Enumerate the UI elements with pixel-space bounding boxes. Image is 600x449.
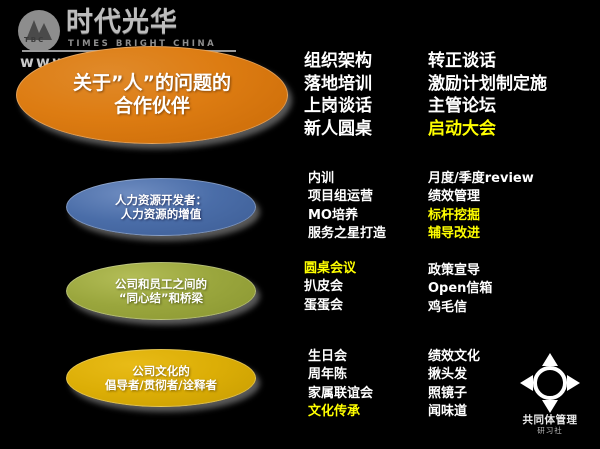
row-2-column-2: 月度/季度review 绩效管理 标杆挖掘 辅导改进 xyxy=(428,170,534,244)
list-item: 照镜子 xyxy=(428,385,480,403)
tbc-logo-icon: TBC xyxy=(18,10,60,52)
row-2-column-1: 内训 项目组运营 MO培养 服务之星打造 xyxy=(308,170,386,244)
row-4-column-1: 生日会 周年陈 家属联谊会 文化传承 xyxy=(308,348,373,422)
compass-diamond-icon xyxy=(518,352,582,414)
role-ellipse-1-line1: 关于”人”的问题的 xyxy=(73,72,231,95)
corner-logo: 共同体管理 研习社 xyxy=(512,352,588,444)
list-item: 激励计划制定施 xyxy=(428,73,547,96)
list-item: 月度/季度review xyxy=(428,170,534,188)
list-item: 蛋蛋会 xyxy=(304,297,356,315)
row-1-column-2: 转正谈话 激励计划制定施 主管论坛 启动大会 xyxy=(428,50,547,140)
list-item: 转正谈话 xyxy=(428,50,547,73)
role-ellipse-1: 关于”人”的问题的 合作伙伴 xyxy=(16,46,288,144)
role-ellipse-4: 公司文化的 倡导者/贯彻者/诠释者 xyxy=(66,349,256,407)
list-item: 家属联谊会 xyxy=(308,385,373,403)
list-item: 服务之星打造 xyxy=(308,225,386,243)
list-item: 政策宣导 xyxy=(428,262,492,280)
list-item: 新人圆桌 xyxy=(304,118,372,141)
row-3-column-1: 圆桌会议 扒皮会 蛋蛋会 xyxy=(304,260,356,315)
role-ellipse-4-line2: 倡导者/贯彻者/诠释者 xyxy=(105,378,217,392)
list-item: 周年陈 xyxy=(308,366,373,384)
role-ellipse-2: 人力资源开发者： 人力资源的增值 xyxy=(66,178,256,236)
list-item: MO培养 xyxy=(308,207,386,225)
list-item: 闻味道 xyxy=(428,403,480,421)
list-item: 项目组运营 xyxy=(308,188,386,206)
role-ellipse-2-line2: 人力资源的增值 xyxy=(115,207,207,221)
list-item: 主管论坛 xyxy=(428,95,547,118)
list-item-highlight: 辅导改进 xyxy=(428,225,534,243)
list-item-highlight: 启动大会 xyxy=(428,118,547,141)
list-item-highlight: 圆桌会议 xyxy=(304,260,356,278)
list-item: 生日会 xyxy=(308,348,373,366)
list-item-highlight: 标杆挖掘 xyxy=(428,207,534,225)
role-ellipse-2-line1: 人力资源开发者： xyxy=(115,193,207,207)
role-ellipse-3: 公司和员工之间的 “同心结”和桥梁 xyxy=(66,262,256,320)
corner-logo-caption-secondary: 研习社 xyxy=(512,425,588,436)
role-ellipse-4-line1: 公司文化的 xyxy=(105,364,217,378)
list-item: 揪头发 xyxy=(428,366,480,384)
row-4-column-2: 绩效文化 揪头发 照镜子 闻味道 xyxy=(428,348,480,422)
list-item-highlight: 文化传承 xyxy=(308,403,373,421)
list-item: 上岗谈话 xyxy=(304,95,372,118)
list-item: 扒皮会 xyxy=(304,278,356,296)
list-item: 落地培训 xyxy=(304,73,372,96)
list-item: 鸡毛信 xyxy=(428,299,492,317)
list-item: 内训 xyxy=(308,170,386,188)
slide-canvas: TBC 时代光华 TIMES BRIGHT CHINA www.hztbc.co… xyxy=(0,0,600,449)
brand-name-cn: 时代光华 xyxy=(66,8,178,38)
list-item: 绩效管理 xyxy=(428,188,534,206)
list-item: Open信箱 xyxy=(428,280,492,298)
list-item: 绩效文化 xyxy=(428,348,480,366)
role-ellipse-3-line1: 公司和员工之间的 xyxy=(115,277,207,291)
row-1-column-1: 组织架构 落地培训 上岗谈话 新人圆桌 xyxy=(304,50,372,140)
role-ellipse-1-line2: 合作伙伴 xyxy=(73,95,231,118)
list-item: 组织架构 xyxy=(304,50,372,73)
tbc-mark-label: TBC xyxy=(24,36,45,44)
row-3-column-2: 政策宣导 Open信箱 鸡毛信 xyxy=(428,262,492,317)
role-ellipse-3-line2: “同心结”和桥梁 xyxy=(115,291,207,305)
